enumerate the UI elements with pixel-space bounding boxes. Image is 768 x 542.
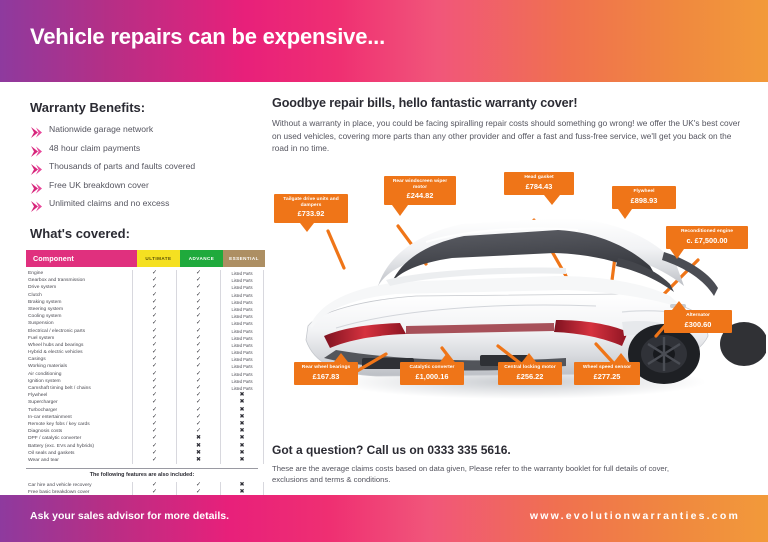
cell-advance: ✓	[176, 482, 220, 489]
cell-essential: Listed Parts	[220, 328, 264, 335]
row-component-name: Wear and tear	[26, 457, 132, 464]
table-row: Oil seals and gaskets✓✖✖	[26, 450, 258, 457]
callout-reconditioned-engine[interactable]: Reconditioned engine c. £7,500.00	[666, 226, 748, 249]
cell-essential: Listed Parts	[220, 320, 264, 327]
row-component-name: Battery (exc. EVs and hybrids)	[26, 443, 132, 450]
row-component-name: Casings	[26, 356, 132, 363]
cell-ultimate: ✓	[132, 328, 176, 335]
callout-price: £733.92	[279, 210, 343, 219]
cell-essential: ✖	[220, 414, 264, 421]
cell-ultimate: ✓	[132, 407, 176, 414]
row-component-name: Hybrid & electric vehicles	[26, 349, 132, 356]
cell-advance: ✓	[176, 284, 220, 291]
row-component-name: Turbocharger	[26, 407, 132, 414]
cell-advance: ✖	[176, 450, 220, 457]
table-row: Wheel hubs and bearings✓✓Listed Parts	[26, 342, 258, 349]
cell-advance: ✓	[176, 421, 220, 428]
callout-label: Alternator	[669, 313, 727, 319]
benefit-item: 48 hour claim payments	[30, 143, 258, 155]
chevron-right-icon	[30, 181, 43, 192]
cell-ultimate: ✓	[132, 306, 176, 313]
callout-rear-wheel-bearings[interactable]: Rear wheel bearings £167.83	[294, 362, 358, 385]
chevron-right-icon	[30, 164, 43, 175]
benefit-label: 48 hour claim payments	[49, 143, 140, 154]
benefit-item: Nationwide garage network	[30, 124, 258, 136]
benefit-item: Thousands of parts and faults covered	[30, 161, 258, 173]
chevron-right-icon	[30, 144, 43, 155]
table-row: Remote key fobs / key cards✓✓✖	[26, 421, 258, 428]
cell-essential: ✖	[220, 450, 264, 457]
cell-ultimate: ✓	[132, 284, 176, 291]
callout-label: Catalytic converter	[405, 365, 459, 371]
cell-advance: ✓	[176, 371, 220, 378]
callout-rear-wiper-motor[interactable]: Rear windscreen wiper motor £244.82	[384, 176, 456, 205]
callout-label: Wheel speed sensor	[579, 365, 635, 371]
chevron-right-icon	[30, 127, 43, 138]
table-header-row: Component ULTIMATE ADVANCE ESSENTIAL	[26, 250, 258, 267]
cell-ultimate: ✓	[132, 443, 176, 450]
cell-ultimate: ✓	[132, 292, 176, 299]
callout-price: £277.25	[579, 373, 635, 382]
callout-price: £167.83	[299, 373, 353, 382]
table-row: In-car entertainment✓✓✖	[26, 414, 258, 421]
chevron-right-icon	[30, 162, 43, 173]
cell-ultimate: ✓	[132, 371, 176, 378]
cell-essential: Listed Parts	[220, 335, 264, 342]
table-row: Electrical / electronic parts✓✓Listed Pa…	[26, 328, 258, 335]
contact-heading[interactable]: Got a question? Call us on 0333 335 5616…	[272, 443, 702, 457]
col-header-component: Component	[26, 250, 137, 267]
row-component-name: DPF / catalytic converter	[26, 435, 132, 442]
callout-label: Tailgate drive units and dampers	[279, 197, 343, 208]
main-copy: Goodbye repair bills, hello fantastic wa…	[272, 96, 750, 155]
cell-essential: Listed Parts	[220, 342, 264, 349]
row-component-name: Flywheel	[26, 392, 132, 399]
table-row: Battery (exc. EVs and hybrids)✓✖✖	[26, 443, 258, 450]
table-row: Engine✓✓Listed Parts	[26, 270, 258, 277]
table-row: Drive system✓✓Listed Parts	[26, 284, 258, 291]
cell-advance: ✓	[176, 356, 220, 363]
main-paragraph: Without a warranty in place, you could b…	[272, 117, 750, 155]
cell-advance: ✓	[176, 277, 220, 284]
cell-advance: ✓	[176, 313, 220, 320]
cell-ultimate: ✓	[132, 356, 176, 363]
cell-advance: ✖	[176, 443, 220, 450]
table-row: Turbocharger✓✓✖	[26, 407, 258, 414]
warranty-benefits-heading: Warranty Benefits:	[30, 100, 258, 115]
cell-advance: ✓	[176, 392, 220, 399]
cell-essential: ✖	[220, 435, 264, 442]
table-row: Wear and tear✓✖✖	[26, 457, 258, 464]
chevron-right-icon	[30, 125, 43, 136]
cell-essential: Listed Parts	[220, 270, 264, 277]
cell-ultimate: ✓	[132, 277, 176, 284]
table-row: Suspension✓✓Listed Parts	[26, 320, 258, 327]
cell-essential: Listed Parts	[220, 313, 264, 320]
table-row: Air conditioning✓✓Listed Parts	[26, 371, 258, 378]
table-row: Braking system✓✓Listed Parts	[26, 299, 258, 306]
col-header-ultimate: ULTIMATE	[137, 250, 180, 267]
benefit-item: Unlimited claims and no excess	[30, 198, 258, 210]
row-component-name: Braking system	[26, 299, 132, 306]
disclaimer-text: These are the average claims costs based…	[272, 463, 702, 485]
footer-website-url[interactable]: www.evolutionwarranties.com	[530, 510, 740, 522]
callout-tailgate-drive-units[interactable]: Tailgate drive units and dampers £733.92	[274, 194, 348, 223]
cell-advance: ✓	[176, 292, 220, 299]
table-row: Car hire and vehicle recovery✓✓✖	[26, 482, 258, 489]
cell-advance: ✓	[176, 342, 220, 349]
table-row: Camshaft timing belt / chains✓✓Listed Pa…	[26, 385, 258, 392]
callout-central-locking-motor[interactable]: Central locking motor £256.22	[498, 362, 562, 385]
cell-ultimate: ✓	[132, 378, 176, 385]
cell-advance: ✓	[176, 414, 220, 421]
cell-essential: Listed Parts	[220, 349, 264, 356]
cell-advance: ✓	[176, 328, 220, 335]
cell-advance: ✓	[176, 385, 220, 392]
callout-label: Head gasket	[509, 175, 569, 181]
footer-cta-text: Ask your sales advisor for more details.	[30, 510, 229, 522]
row-component-name: Supercharger	[26, 399, 132, 406]
also-included-title: The following features are also included…	[26, 472, 258, 478]
chevron-right-icon	[30, 201, 43, 212]
callout-label: Central locking motor	[503, 365, 557, 371]
callout-price: £256.22	[503, 373, 557, 382]
cell-ultimate: ✓	[132, 428, 176, 435]
col-header-advance: ADVANCE	[180, 250, 223, 267]
callout-price: £784.43	[509, 183, 569, 192]
row-component-name: In-car entertainment	[26, 414, 132, 421]
cell-advance: ✓	[176, 270, 220, 277]
table-row: Diagnosis costs✓✓✖	[26, 428, 258, 435]
cell-ultimate: ✓	[132, 392, 176, 399]
table-row: Ignition system✓✓Listed Parts	[26, 378, 258, 385]
table-row: Working materials✓✓Listed Parts	[26, 363, 258, 370]
cell-ultimate: ✓	[132, 399, 176, 406]
cell-ultimate: ✓	[132, 363, 176, 370]
row-component-name: Working materials	[26, 363, 132, 370]
row-component-name: Camshaft timing belt / chains	[26, 385, 132, 392]
cell-essential: Listed Parts	[220, 299, 264, 306]
cell-advance: ✓	[176, 306, 220, 313]
table-body: Engine✓✓Listed PartsGearbox and transmis…	[26, 270, 258, 464]
callout-wheel-speed-sensor[interactable]: Wheel speed sensor £277.25	[574, 362, 640, 385]
cell-ultimate: ✓	[132, 414, 176, 421]
callout-head-gasket[interactable]: Head gasket £784.43	[504, 172, 574, 195]
benefits-list: Nationwide garage network48 hour claim p…	[30, 124, 258, 210]
cell-ultimate: ✓	[132, 270, 176, 277]
row-component-name: Cooling system	[26, 313, 132, 320]
cell-ultimate: ✓	[132, 421, 176, 428]
row-component-name: Car hire and vehicle recovery	[26, 482, 132, 489]
cell-advance: ✓	[176, 399, 220, 406]
benefit-label: Nationwide garage network	[49, 124, 153, 135]
row-component-name: Air conditioning	[26, 371, 132, 378]
benefit-label: Thousands of parts and faults covered	[49, 161, 195, 172]
cell-essential: Listed Parts	[220, 356, 264, 363]
cell-advance: ✓	[176, 299, 220, 306]
callout-price: £300.60	[669, 321, 727, 330]
row-component-name: Gearbox and transmission	[26, 277, 132, 284]
infographic-page: Vehicle repairs can be expensive... Warr…	[0, 0, 768, 542]
cell-essential: Listed Parts	[220, 371, 264, 378]
row-component-name: Remote key fobs / key cards	[26, 421, 132, 428]
callout-price: c. £7,500.00	[671, 237, 743, 246]
table-row: Supercharger✓✓✖	[26, 399, 258, 406]
table-divider	[26, 468, 258, 469]
table-row: Casings✓✓Listed Parts	[26, 356, 258, 363]
callout-label: Reconditioned engine	[671, 229, 743, 235]
benefit-label: Free UK breakdown cover	[49, 180, 149, 191]
table-row: Hybrid & electric vehicles✓✓Listed Parts	[26, 349, 258, 356]
cell-essential: ✖	[220, 407, 264, 414]
cell-advance: ✓	[176, 407, 220, 414]
cell-essential: Listed Parts	[220, 292, 264, 299]
whats-covered-heading: What's covered:	[30, 226, 258, 241]
row-component-name: Oil seals and gaskets	[26, 450, 132, 457]
coverage-table: Component ULTIMATE ADVANCE ESSENTIAL Eng…	[26, 250, 258, 516]
footer-banner: Ask your sales advisor for more details.…	[0, 495, 768, 542]
benefit-item: Free UK breakdown cover	[30, 180, 258, 192]
page-title: Vehicle repairs can be expensive...	[30, 24, 385, 50]
callout-catalytic-converter[interactable]: Catalytic converter £1,000.16	[400, 362, 464, 385]
table-row: DPF / catalytic converter✓✖✖	[26, 435, 258, 442]
row-component-name: Wheel hubs and bearings	[26, 342, 132, 349]
cell-advance: ✖	[176, 435, 220, 442]
table-row: Clutch✓✓Listed Parts	[26, 292, 258, 299]
table-row: Cooling system✓✓Listed Parts	[26, 313, 258, 320]
cell-advance: ✓	[176, 320, 220, 327]
chevron-right-icon	[30, 146, 43, 157]
cell-essential: Listed Parts	[220, 306, 264, 313]
row-component-name: Drive system	[26, 284, 132, 291]
callout-label: Rear windscreen wiper motor	[389, 179, 451, 190]
table-row: Gearbox and transmission✓✓Listed Parts	[26, 277, 258, 284]
cell-ultimate: ✓	[132, 450, 176, 457]
row-component-name: Suspension	[26, 320, 132, 327]
cell-ultimate: ✓	[132, 320, 176, 327]
cell-essential: Listed Parts	[220, 363, 264, 370]
cell-essential: Listed Parts	[220, 378, 264, 385]
cell-advance: ✖	[176, 457, 220, 464]
callout-price: £1,000.16	[405, 373, 459, 382]
cell-ultimate: ✓	[132, 385, 176, 392]
cell-advance: ✓	[176, 363, 220, 370]
cell-advance: ✓	[176, 378, 220, 385]
row-component-name: Fuel system	[26, 335, 132, 342]
row-component-name: Diagnosis costs	[26, 428, 132, 435]
row-component-name: Ignition system	[26, 378, 132, 385]
cell-essential: ✖	[220, 399, 264, 406]
row-component-name: Clutch	[26, 292, 132, 299]
chevron-right-icon	[30, 199, 43, 210]
cell-ultimate: ✓	[132, 349, 176, 356]
chevron-right-icon	[30, 183, 43, 194]
callout-label: Rear wheel bearings	[299, 365, 353, 371]
row-component-name: Steering system	[26, 306, 132, 313]
cell-ultimate: ✓	[132, 457, 176, 464]
cell-ultimate: ✓	[132, 335, 176, 342]
row-component-name: Engine	[26, 270, 132, 277]
cell-ultimate: ✓	[132, 435, 176, 442]
cell-essential: Listed Parts	[220, 277, 264, 284]
table-row: Steering system✓✓Listed Parts	[26, 306, 258, 313]
cell-essential: ✖	[220, 457, 264, 464]
sidebar: Warranty Benefits: Nationwide garage net…	[30, 100, 258, 249]
callout-flywheel[interactable]: Flywheel £898.93	[612, 186, 676, 209]
col-header-essential: ESSENTIAL	[223, 250, 265, 267]
cell-ultimate: ✓	[132, 299, 176, 306]
table-row: Fuel system✓✓Listed Parts	[26, 335, 258, 342]
cell-advance: ✓	[176, 349, 220, 356]
cell-advance: ✓	[176, 335, 220, 342]
benefit-label: Unlimited claims and no excess	[49, 198, 169, 209]
callout-price: £898.93	[617, 197, 671, 206]
cell-ultimate: ✓	[132, 342, 176, 349]
header-banner: Vehicle repairs can be expensive...	[0, 0, 768, 82]
callout-price: £244.82	[389, 192, 451, 201]
car-diagram: Tailgate drive units and dampers £733.92…	[266, 168, 766, 430]
cell-ultimate: ✓	[132, 482, 176, 489]
cell-essential: Listed Parts	[220, 284, 264, 291]
main-heading: Goodbye repair bills, hello fantastic wa…	[272, 96, 750, 110]
row-component-name: Electrical / electronic parts	[26, 328, 132, 335]
table-row: Flywheel✓✓✖	[26, 392, 258, 399]
contact-block: Got a question? Call us on 0333 335 5616…	[272, 443, 702, 485]
cell-essential: ✖	[220, 443, 264, 450]
cell-ultimate: ✓	[132, 313, 176, 320]
callout-alternator[interactable]: Alternator £300.60	[664, 310, 732, 333]
callout-label: Flywheel	[617, 189, 671, 195]
